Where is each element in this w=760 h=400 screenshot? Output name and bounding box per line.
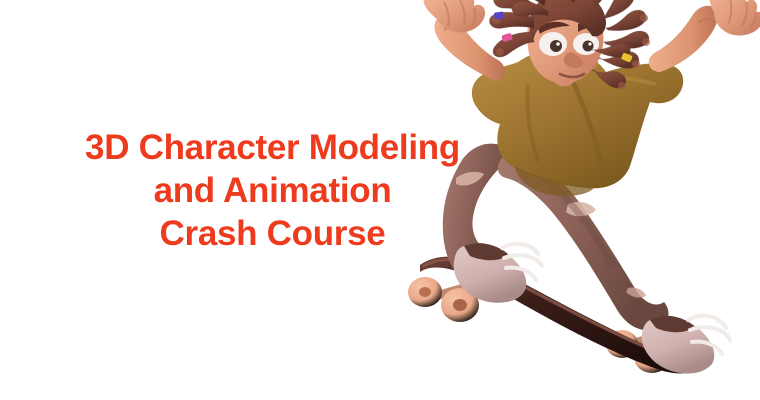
- title-line-1: 3D Character Modeling: [60, 126, 485, 169]
- page-title: 3D Character Modeling and Animation Cras…: [60, 126, 485, 255]
- hand-right: [710, 0, 760, 36]
- arm-right: [649, 6, 718, 72]
- title-line-3: Crash Course: [60, 212, 485, 255]
- title-line-2: and Animation: [60, 169, 485, 212]
- hand-left: [424, 0, 485, 32]
- skateboard-wheel-rear-left: [408, 277, 442, 307]
- purple-bead: [494, 11, 505, 19]
- course-banner: 3D Character Modeling and Animation Cras…: [0, 0, 760, 400]
